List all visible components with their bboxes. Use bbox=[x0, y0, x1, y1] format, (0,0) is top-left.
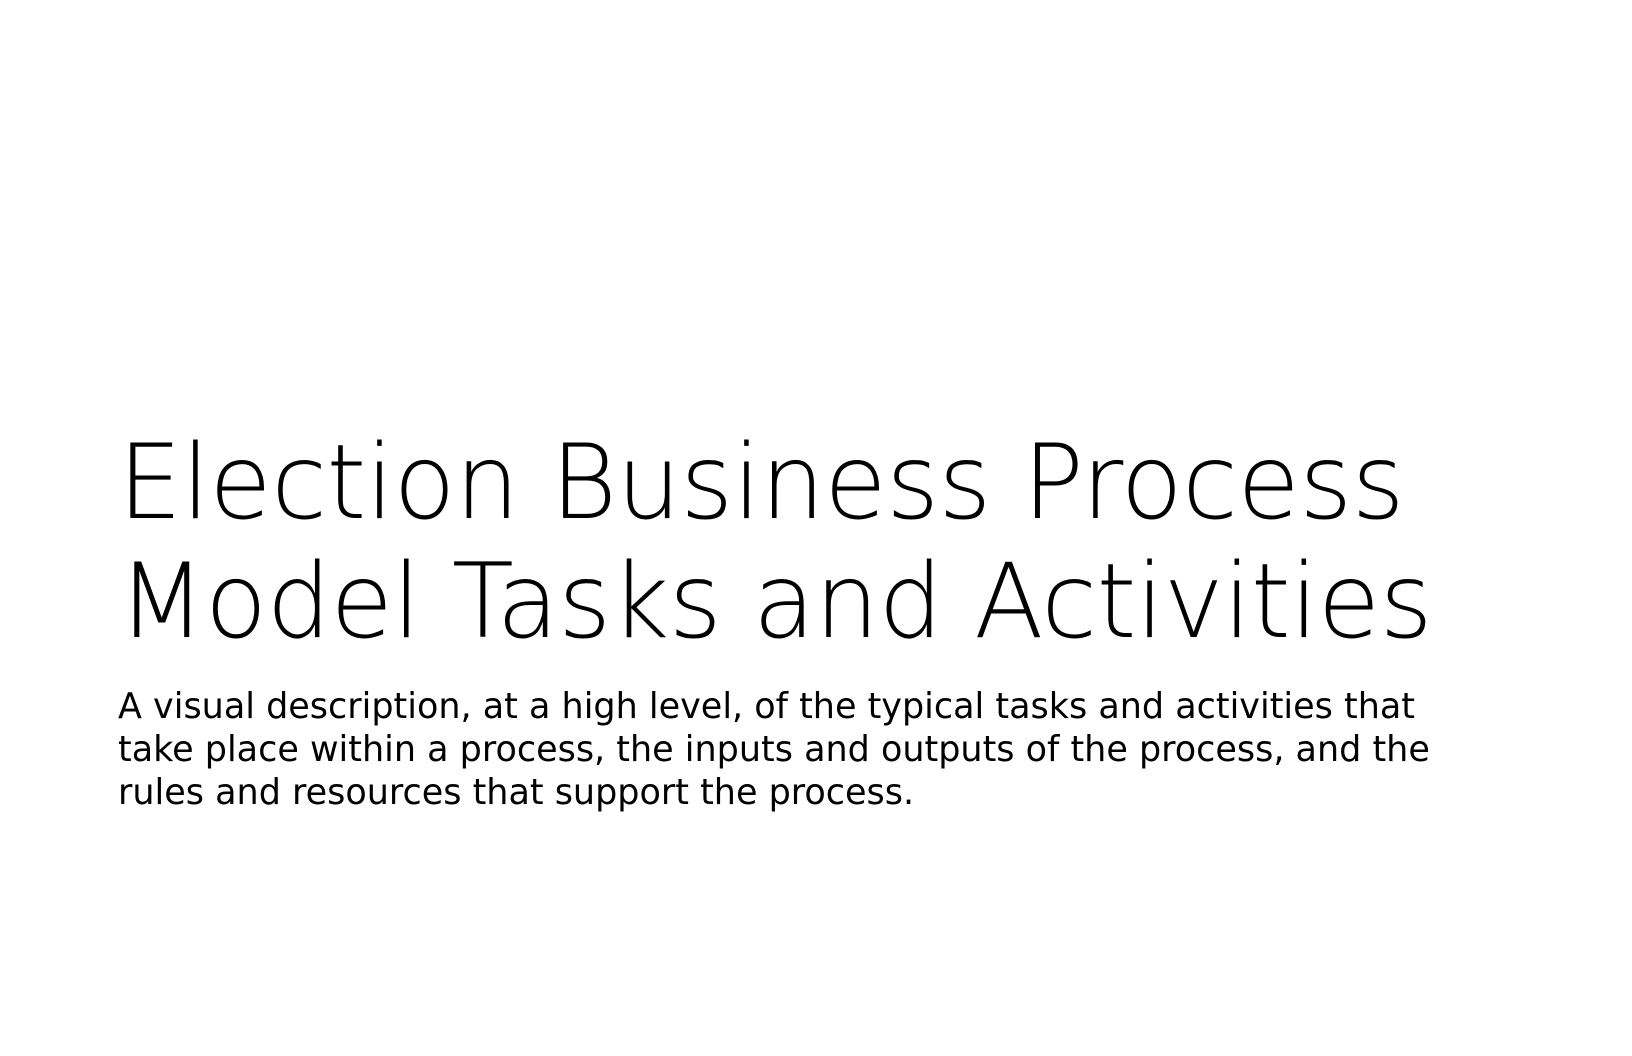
title-content-block: Election Business Process Model Tasks an… bbox=[118, 424, 1488, 814]
page-title: Election Business Process Model Tasks an… bbox=[118, 424, 1467, 663]
slide-subtitle-text: A visual description, at a high level, o… bbox=[118, 685, 1467, 814]
slide-canvas: Election Business Process Model Tasks an… bbox=[0, 0, 1632, 1056]
